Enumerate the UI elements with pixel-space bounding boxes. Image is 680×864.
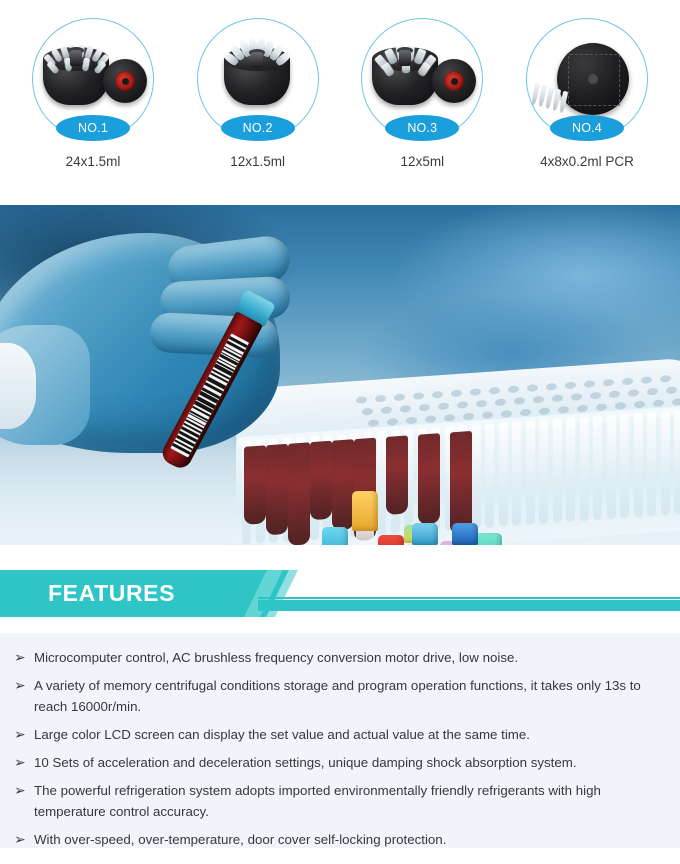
laboratory-blood-tubes-photo: [0, 205, 680, 545]
rotor-caption: 4x8x0.2ml PCR: [540, 154, 634, 169]
rotor-badge: NO.3: [385, 115, 459, 141]
rotor-card-3[interactable]: NO.3 12x5ml: [347, 18, 497, 169]
feature-item: ➢10 Sets of acceleration and deceleratio…: [14, 752, 662, 773]
feature-item: ➢Microcomputer control, AC brushless fre…: [14, 647, 662, 668]
feature-item: ➢Large color LCD screen can display the …: [14, 724, 662, 745]
bullet-arrow-icon: ➢: [14, 752, 34, 773]
feature-text: Large color LCD screen can display the s…: [34, 724, 530, 745]
feature-item: ➢The powerful refrigeration system adopt…: [14, 780, 662, 822]
feature-item: ➢A variety of memory centrifugal conditi…: [14, 675, 662, 717]
bullet-arrow-icon: ➢: [14, 675, 34, 696]
rotor-lid-icon: [432, 59, 476, 103]
rotor-circle-frame: NO.4: [526, 18, 648, 140]
rotor-caption: 24x1.5ml: [66, 154, 121, 169]
rotor-12x1-5ml-icon: [202, 33, 314, 125]
rotor-options-section: NO.1 24x1.5ml NO.: [0, 0, 680, 200]
rotor-pcr-4x8x0-2ml-icon: [531, 33, 643, 125]
bullet-arrow-icon: ➢: [14, 724, 34, 745]
feature-text: With over-speed, over-temperature, door …: [34, 829, 446, 850]
bullet-arrow-icon: ➢: [14, 829, 34, 850]
rotor-caption: 12x5ml: [401, 154, 445, 169]
rotor-card-1[interactable]: NO.1 24x1.5ml: [18, 18, 168, 169]
rotor-card-2[interactable]: NO.2 12x1.5ml: [183, 18, 333, 169]
bullet-arrow-icon: ➢: [14, 647, 34, 668]
tube-rack: [236, 373, 680, 545]
feature-text: The powerful refrigeration system adopts…: [34, 780, 662, 822]
rotor-caption: 12x1.5ml: [230, 154, 285, 169]
rack-tube-cap: [452, 523, 478, 545]
rotor-card-4[interactable]: NO.4 4x8x0.2ml PCR: [512, 18, 662, 169]
features-banner: FEATURES: [0, 570, 680, 617]
rack-tube-cap: [412, 523, 438, 545]
feature-item: ➢With over-speed, over-temperature, door…: [14, 829, 662, 850]
rotor-circle-frame: NO.2: [197, 18, 319, 140]
feature-text: Microcomputer control, AC brushless freq…: [34, 647, 518, 668]
features-title: FEATURES: [48, 570, 175, 617]
rack-tube-cap: [352, 491, 378, 531]
rotor-circle-frame: NO.1: [32, 18, 154, 140]
rack-tube-cap: [322, 527, 348, 545]
bullet-arrow-icon: ➢: [14, 780, 34, 801]
feature-text: A variety of memory centrifugal conditio…: [34, 675, 662, 717]
rotor-badge: NO.4: [550, 115, 624, 141]
rotor-circle-frame: NO.3: [361, 18, 483, 140]
pcr-tube-strip-icon: [533, 83, 569, 109]
rotor-lid-icon: [103, 59, 147, 103]
rotor-badge: NO.1: [56, 115, 130, 141]
feature-text: 10 Sets of acceleration and deceleration…: [34, 752, 577, 773]
features-section: FEATURES ➢Microcomputer control, AC brus…: [0, 545, 680, 864]
features-list: ➢Microcomputer control, AC brushless fre…: [0, 633, 680, 848]
rack-tube-cap: [378, 535, 404, 545]
rotor-badge: NO.2: [221, 115, 295, 141]
rotor-12x5ml-icon: [366, 33, 478, 125]
rotor-24x1-5ml-icon: [37, 33, 149, 125]
rack-tube-cap: [474, 533, 502, 545]
